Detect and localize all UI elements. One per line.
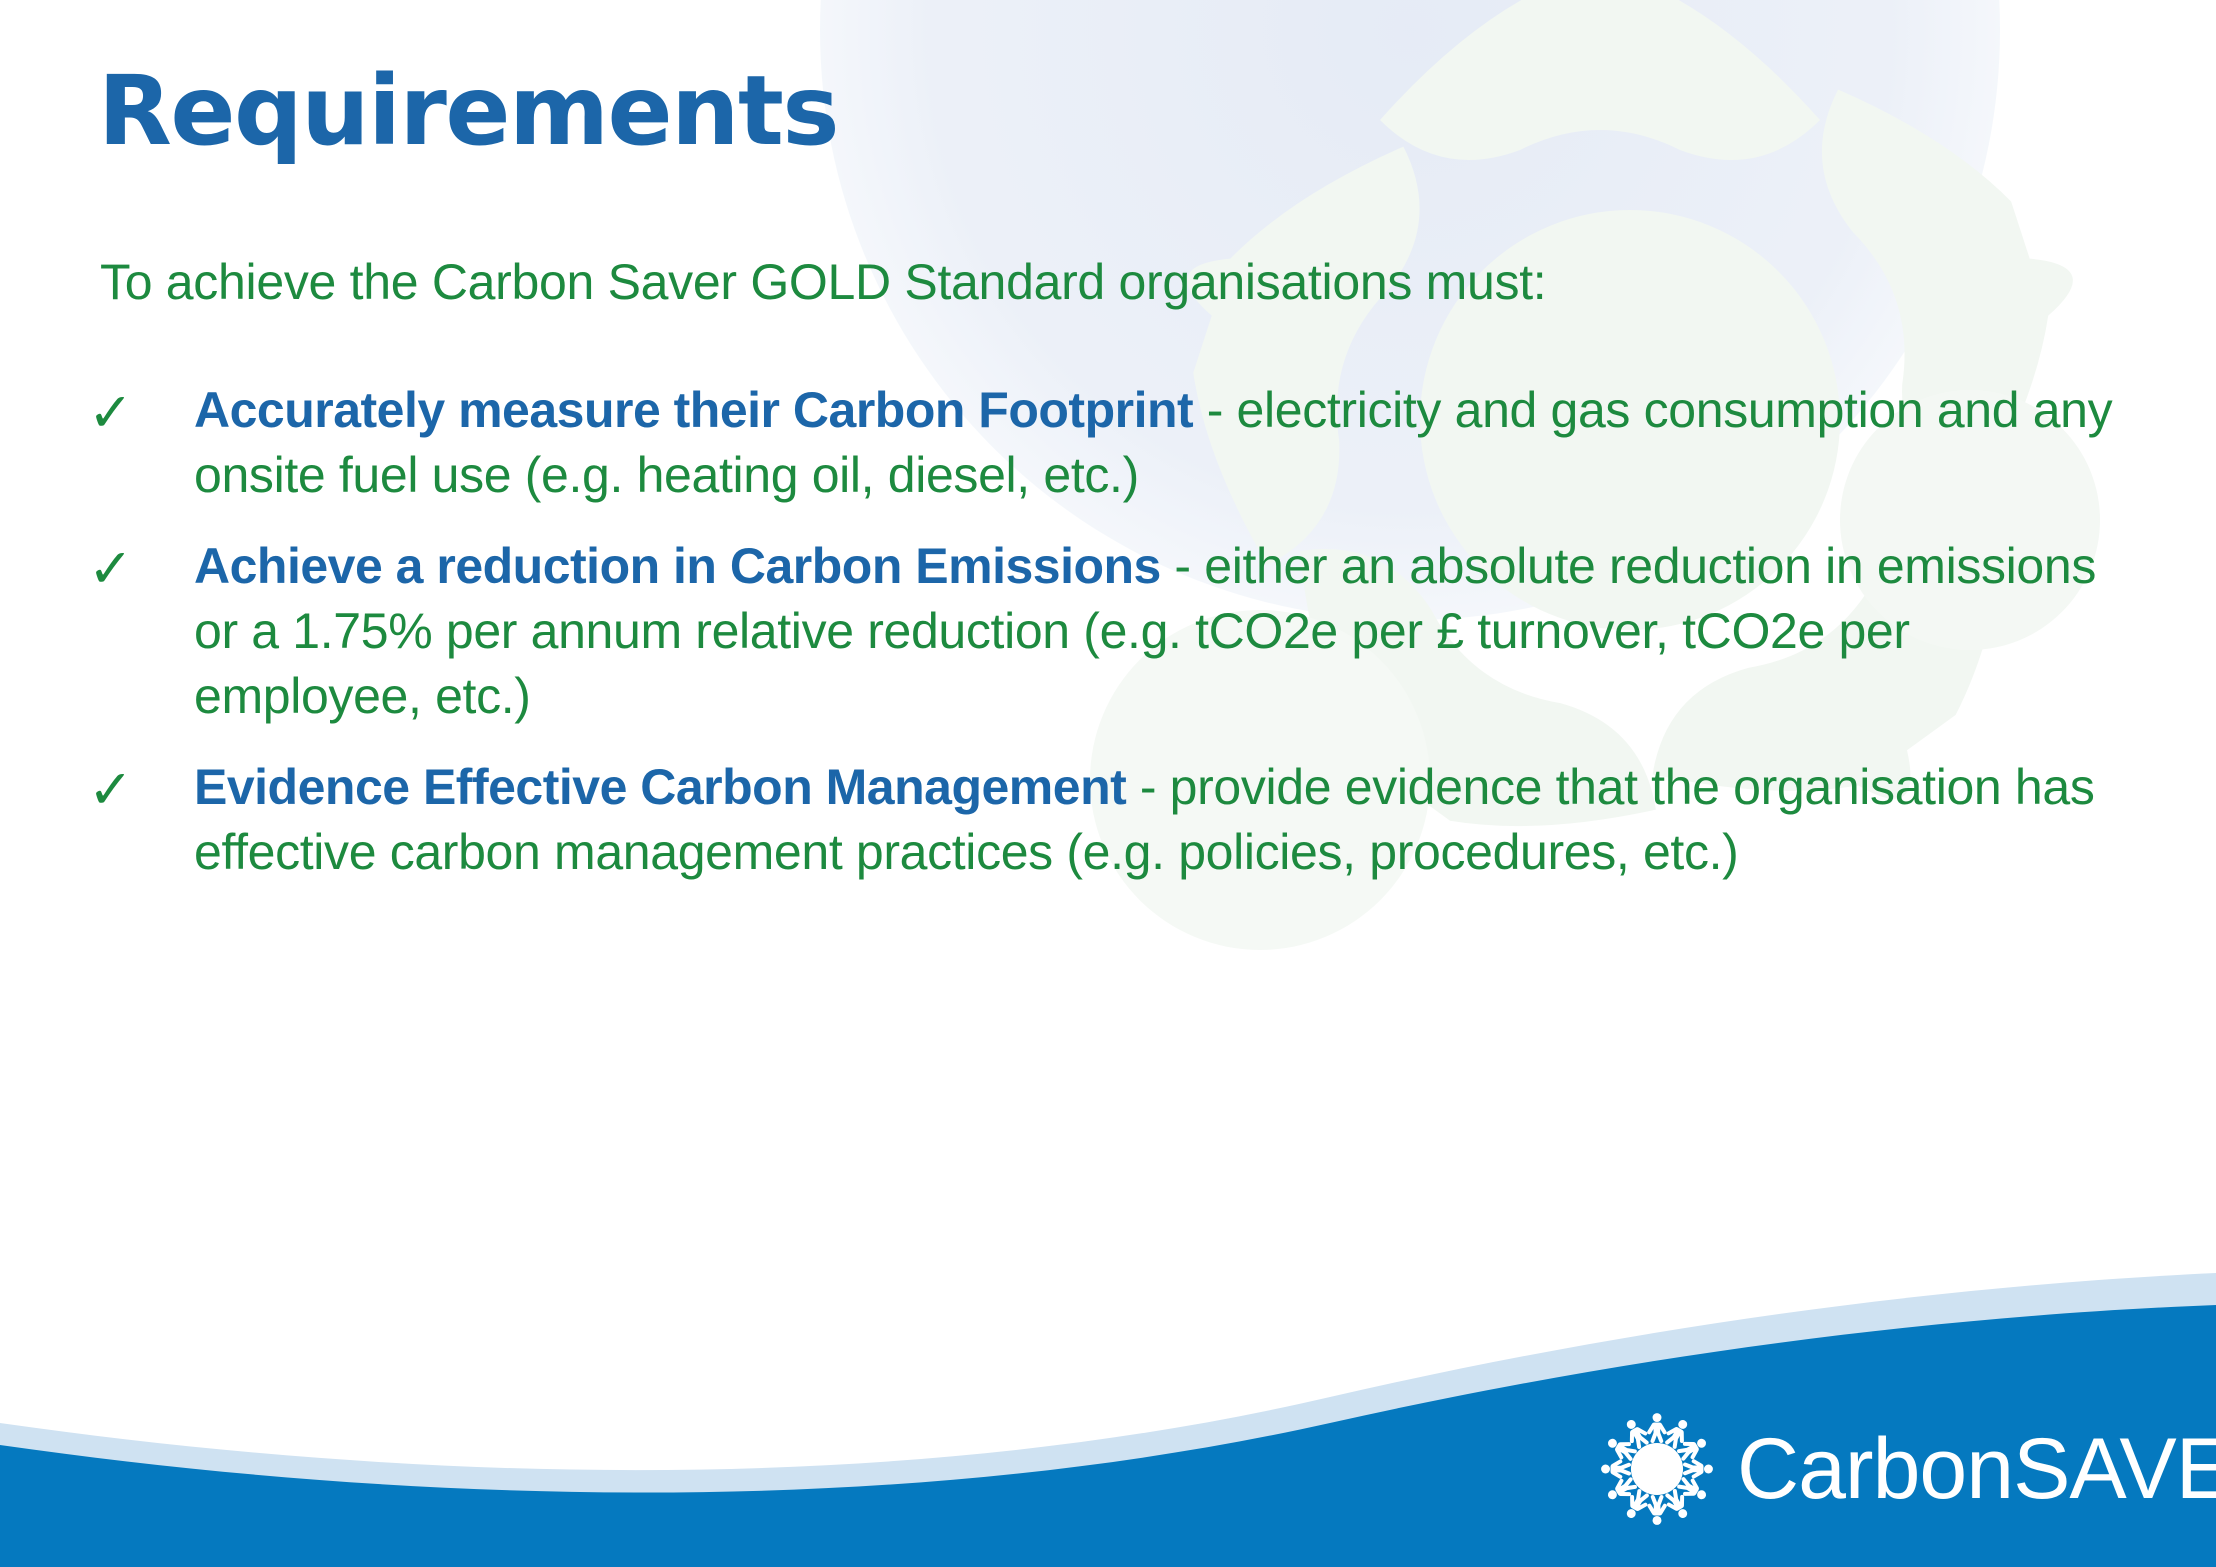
list-item-lead: Evidence Effective Carbon Management	[194, 759, 1126, 815]
check-icon: ✓	[82, 378, 194, 448]
list-item-text: Achieve a reduction in Carbon Emissions …	[194, 534, 2142, 729]
logo-word-saver: SAVER	[2013, 1421, 2216, 1517]
list-item-text: Evidence Effective Carbon Management - p…	[194, 755, 2142, 885]
logo-wordmark: CarbonSAVER®	[1737, 1426, 2216, 1512]
check-icon: ✓	[82, 534, 194, 604]
list-item-text: Accurately measure their Carbon Footprin…	[194, 378, 2142, 508]
carbonsaver-logo: CarbonSAVER®	[1595, 1404, 2216, 1534]
logo-word-carbon: Carbon	[1737, 1421, 2013, 1517]
list-item: ✓ Achieve a reduction in Carbon Emission…	[82, 534, 2142, 729]
intro-text: To achieve the Carbon Saver GOLD Standar…	[100, 252, 1546, 312]
list-item-lead: Accurately measure their Carbon Footprin…	[194, 382, 1193, 438]
requirements-list: ✓ Accurately measure their Carbon Footpr…	[82, 378, 2142, 911]
list-item: ✓ Accurately measure their Carbon Footpr…	[82, 378, 2142, 508]
people-sun-logo-icon	[1595, 1407, 1719, 1531]
page-title: Requirements	[98, 62, 838, 162]
check-icon: ✓	[82, 755, 194, 825]
list-item: ✓ Evidence Effective Carbon Management -…	[82, 755, 2142, 885]
slide-canvas: Requirements To achieve the Carbon Saver…	[0, 0, 2216, 1567]
list-item-lead: Achieve a reduction in Carbon Emissions	[194, 538, 1161, 594]
